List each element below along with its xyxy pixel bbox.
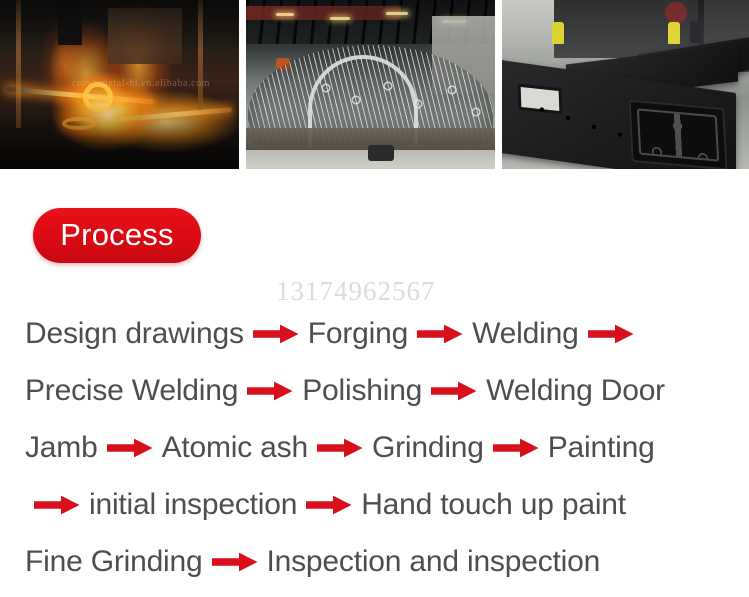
process-step-label: Grinding [372, 433, 484, 463]
right-arrow-icon [306, 495, 352, 515]
process-step-label: Welding Door [486, 376, 665, 406]
process-step-label: Atomic ash [162, 433, 308, 463]
right-arrow-icon [247, 381, 293, 401]
dome-scrollwork [312, 74, 487, 130]
forge-post-right [198, 0, 203, 112]
process-step-label: Polishing [302, 376, 422, 406]
right-arrow-icon [34, 495, 80, 515]
right-arrow-icon [212, 552, 258, 572]
process-step-label: Forging [308, 319, 408, 349]
factory-worker [552, 22, 564, 44]
factory-worker [668, 22, 680, 44]
process-step-label: Painting [548, 433, 655, 463]
workshop-red-wall [246, 6, 401, 20]
process-step-label: Hand touch up paint [361, 490, 626, 520]
ceiling-lamp [276, 13, 294, 16]
painted-door-panels-photo [502, 0, 749, 169]
right-arrow-icon [431, 381, 477, 401]
forging-furnace-photo: crownmetal-hl.en.alibaba.com [0, 0, 239, 169]
right-arrow-icon [107, 438, 153, 458]
door-scrollwork-plate [628, 100, 727, 169]
process-steps: Design drawingsForgingWeldingPrecise Wel… [0, 305, 749, 590]
right-arrow-icon [417, 324, 463, 344]
process-step-label: initial inspection [89, 490, 297, 520]
process-step-label: Fine Grinding [25, 547, 203, 577]
glowing-bar-2 [120, 107, 232, 122]
ceiling-lamp [330, 17, 350, 20]
factory-worker [690, 21, 702, 43]
forge-backplate [108, 8, 182, 64]
process-badge-label: Process [60, 219, 173, 252]
workshop-scene [246, 0, 495, 169]
factory-red-object [665, 2, 687, 24]
process-step-line: Fine GrindingInspection and inspection [0, 533, 749, 590]
welded-frame-photo [246, 0, 495, 169]
process-step-label: Design drawings [25, 319, 244, 349]
process-step-label: Precise Welding [25, 376, 238, 406]
right-arrow-icon [493, 438, 539, 458]
workshop-cart [368, 145, 394, 161]
process-step-line: Precise WeldingPolishingWelding Door [0, 362, 749, 419]
process-badge: Process [33, 208, 201, 263]
door-factory-scene [502, 0, 749, 169]
glowing-ring-2 [62, 117, 96, 130]
forge-post-left [16, 0, 21, 128]
process-step-label: Jamb [25, 433, 98, 463]
process-step-label: Inspection and inspection [267, 547, 601, 577]
process-step-line: Design drawingsForgingWelding [0, 305, 749, 362]
right-arrow-icon [253, 324, 299, 344]
photo-watermark: crownmetal-hl.en.alibaba.com [72, 78, 210, 89]
process-step-label: Welding [472, 319, 578, 349]
right-arrow-icon [317, 438, 363, 458]
process-step-line: initial inspectionHand touch up paint [0, 476, 749, 533]
ceiling-lamp [386, 12, 408, 15]
worker-legs [58, 3, 82, 45]
glowing-bar-1 [6, 87, 154, 105]
process-step-line: JambAtomic ashGrindingPainting [0, 419, 749, 476]
photo-strip: crownmetal-hl.en.alibaba.com [0, 0, 749, 169]
phone-number-watermark: 13174962567 [276, 276, 436, 307]
right-arrow-icon [588, 324, 634, 344]
